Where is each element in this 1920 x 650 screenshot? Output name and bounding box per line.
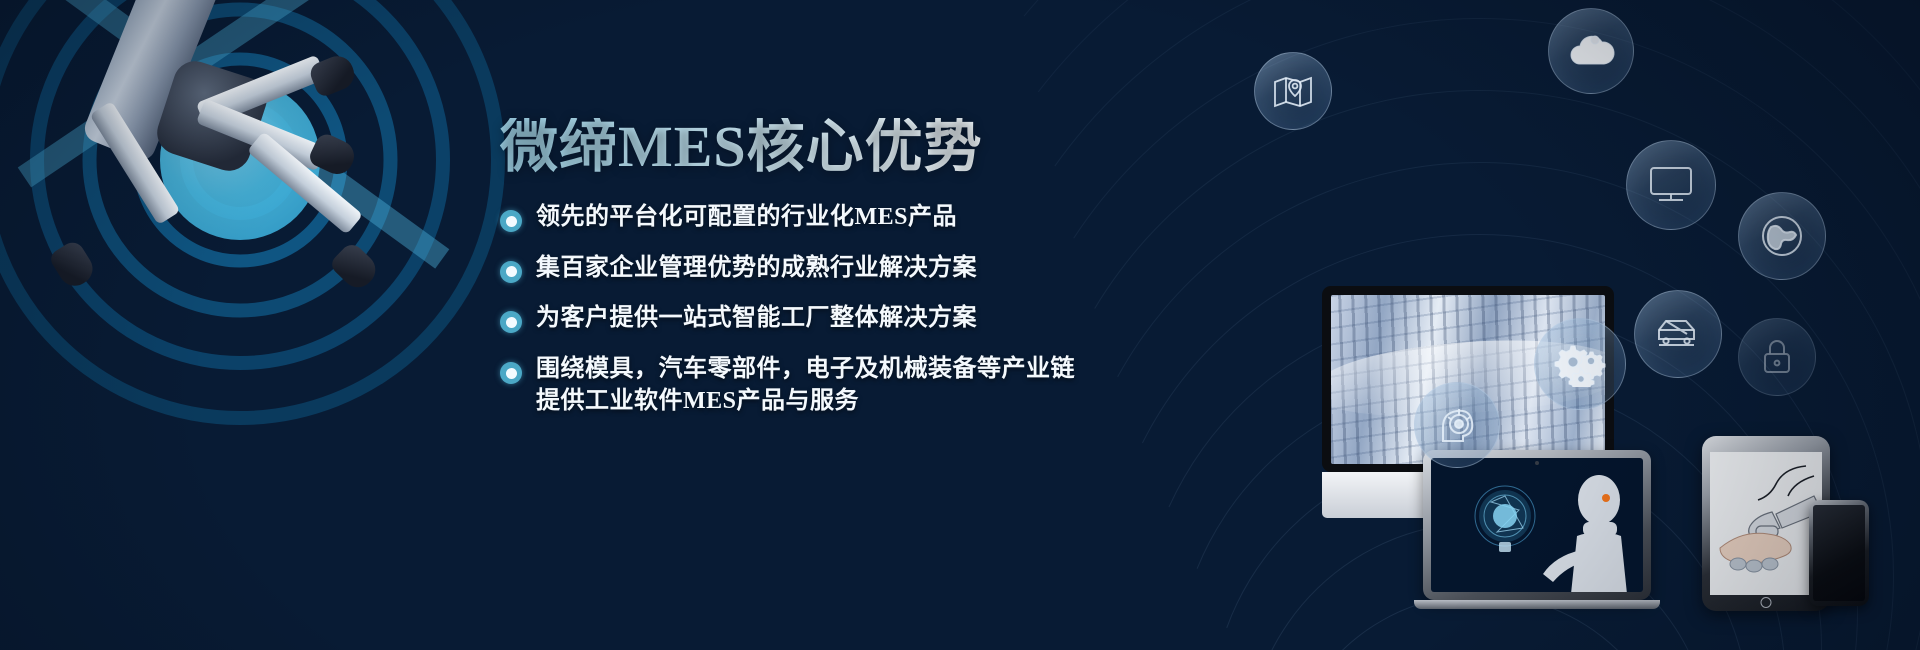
phone-bezel	[1809, 500, 1869, 606]
smartphone	[1809, 500, 1869, 606]
bullet-marker-icon	[500, 362, 522, 384]
monitor-icon-bubble[interactable]	[1626, 140, 1716, 230]
advantage-list: 领先的平台化可配置的行业化MES产品 集百家企业管理优势的成熟行业解决方案 为客…	[500, 202, 1220, 417]
map-location-icon-bubble[interactable]	[1254, 52, 1332, 130]
list-item: 围绕模具，汽车零部件，电子及机械装备等产业链 提供工业软件MES产品与服务	[500, 354, 1220, 417]
list-item-label: 集百家企业管理优势的成熟行业解决方案	[536, 253, 977, 285]
car-icon-bubble[interactable]	[1634, 290, 1722, 378]
tablet-home-button[interactable]	[1761, 597, 1772, 608]
list-item-label: 领先的平台化可配置的行业化MES产品	[536, 202, 957, 234]
globe-icon-bubble[interactable]	[1738, 192, 1826, 280]
phone-screen	[1813, 505, 1865, 601]
list-item: 为客户提供一站式智能工厂整体解决方案	[500, 303, 1220, 335]
monitor-icon	[1648, 165, 1694, 205]
list-item-label-line1: 围绕模具，汽车零部件，电子及机械装备等产业链	[536, 356, 1075, 382]
gears-icon	[1553, 341, 1607, 387]
laptop	[1423, 450, 1660, 609]
list-item-label-line2: 提供工业软件MES产品与服务	[536, 386, 1075, 418]
ai-head-icon-bubble[interactable]	[1414, 382, 1500, 468]
list-item-label: 为客户提供一站式智能工厂整体解决方案	[536, 303, 977, 335]
cloud-icon	[1567, 33, 1615, 69]
ai-head-icon	[1435, 403, 1479, 447]
bullet-marker-icon	[500, 210, 522, 232]
lock-icon	[1760, 338, 1794, 376]
list-item: 领先的平台化可配置的行业化MES产品	[500, 202, 1220, 234]
laptop-screen-robot-lightbulb	[1431, 458, 1643, 592]
banner-copy: 微缔MES核心优势 领先的平台化可配置的行业化MES产品 集百家企业管理优势的成…	[500, 118, 1220, 436]
list-item-label-wrap: 围绕模具，汽车零部件，电子及机械装备等产业链 提供工业软件MES产品与服务	[536, 354, 1075, 417]
robot-arm-radar-artwork	[0, 0, 520, 470]
mes-hero-banner: 	[0, 0, 1920, 650]
bullet-marker-icon	[500, 261, 522, 283]
bullet-marker-icon	[500, 311, 522, 333]
gears-icon-bubble[interactable]	[1534, 318, 1626, 410]
list-item: 集百家企业管理优势的成熟行业解决方案	[500, 253, 1220, 285]
tablet-screen-handshake-image	[1710, 452, 1822, 595]
laptop-base	[1414, 600, 1660, 609]
map-location-icon	[1272, 74, 1314, 108]
lock-icon-bubble[interactable]	[1738, 318, 1816, 396]
car-icon	[1654, 317, 1702, 351]
laptop-lid	[1423, 450, 1651, 600]
cloud-icon-bubble[interactable]	[1548, 8, 1634, 94]
globe-icon	[1759, 213, 1805, 259]
page-title: 微缔MES核心优势	[500, 118, 1220, 176]
